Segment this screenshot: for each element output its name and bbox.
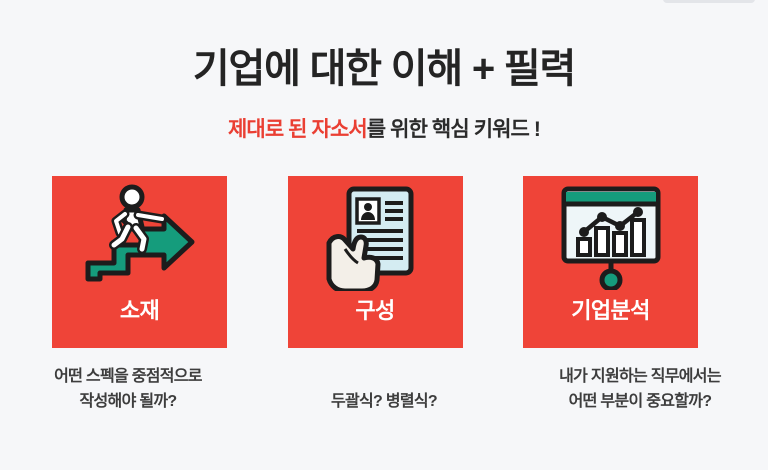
keyword-card-label: 소재 xyxy=(52,298,227,324)
caption-gieopbunseok: 내가 지원하는 직무에서는 어떤 부분이 중요할까? xyxy=(512,364,768,434)
caption-row: 어떤 스펙을 중점적으로 작성해야 될까? 두괄식? 병렬식? 내가 지원하는 … xyxy=(0,364,768,434)
presentation-chart-board-icon xyxy=(523,176,698,298)
subtitle-rest: 를 위한 핵심 키워드 ! xyxy=(367,118,540,141)
page-subtitle: 제대로 된 자소서를 위한 핵심 키워드 ! xyxy=(0,116,768,144)
caption-soojae: 어떤 스펙을 중점적으로 작성해야 될까? xyxy=(0,364,256,434)
top-edge-stub xyxy=(663,0,755,3)
page-title: 기업에 대한 이해 + 필력 xyxy=(0,45,768,93)
keyword-card-row: 소재 xyxy=(52,176,698,348)
keyword-card-guseong[interactable]: 구성 xyxy=(288,176,463,348)
caption-guseong: 두괄식? 병렬식? xyxy=(256,364,512,434)
keyword-card-label: 구성 xyxy=(288,298,463,324)
slide-root: 기업에 대한 이해 + 필력 제대로 된 자소서를 위한 핵심 키워드 ! xyxy=(0,0,768,470)
subtitle-highlight: 제대로 된 자소서 xyxy=(228,118,367,141)
keyword-card-soojae[interactable]: 소재 xyxy=(52,176,227,348)
keyword-card-gieopbunseok[interactable]: 기업분석 xyxy=(523,176,698,348)
keyword-card-label: 기업분석 xyxy=(523,298,698,324)
person-climbing-stairs-arrow-icon xyxy=(52,176,227,298)
hand-holding-resume-icon xyxy=(288,176,463,298)
